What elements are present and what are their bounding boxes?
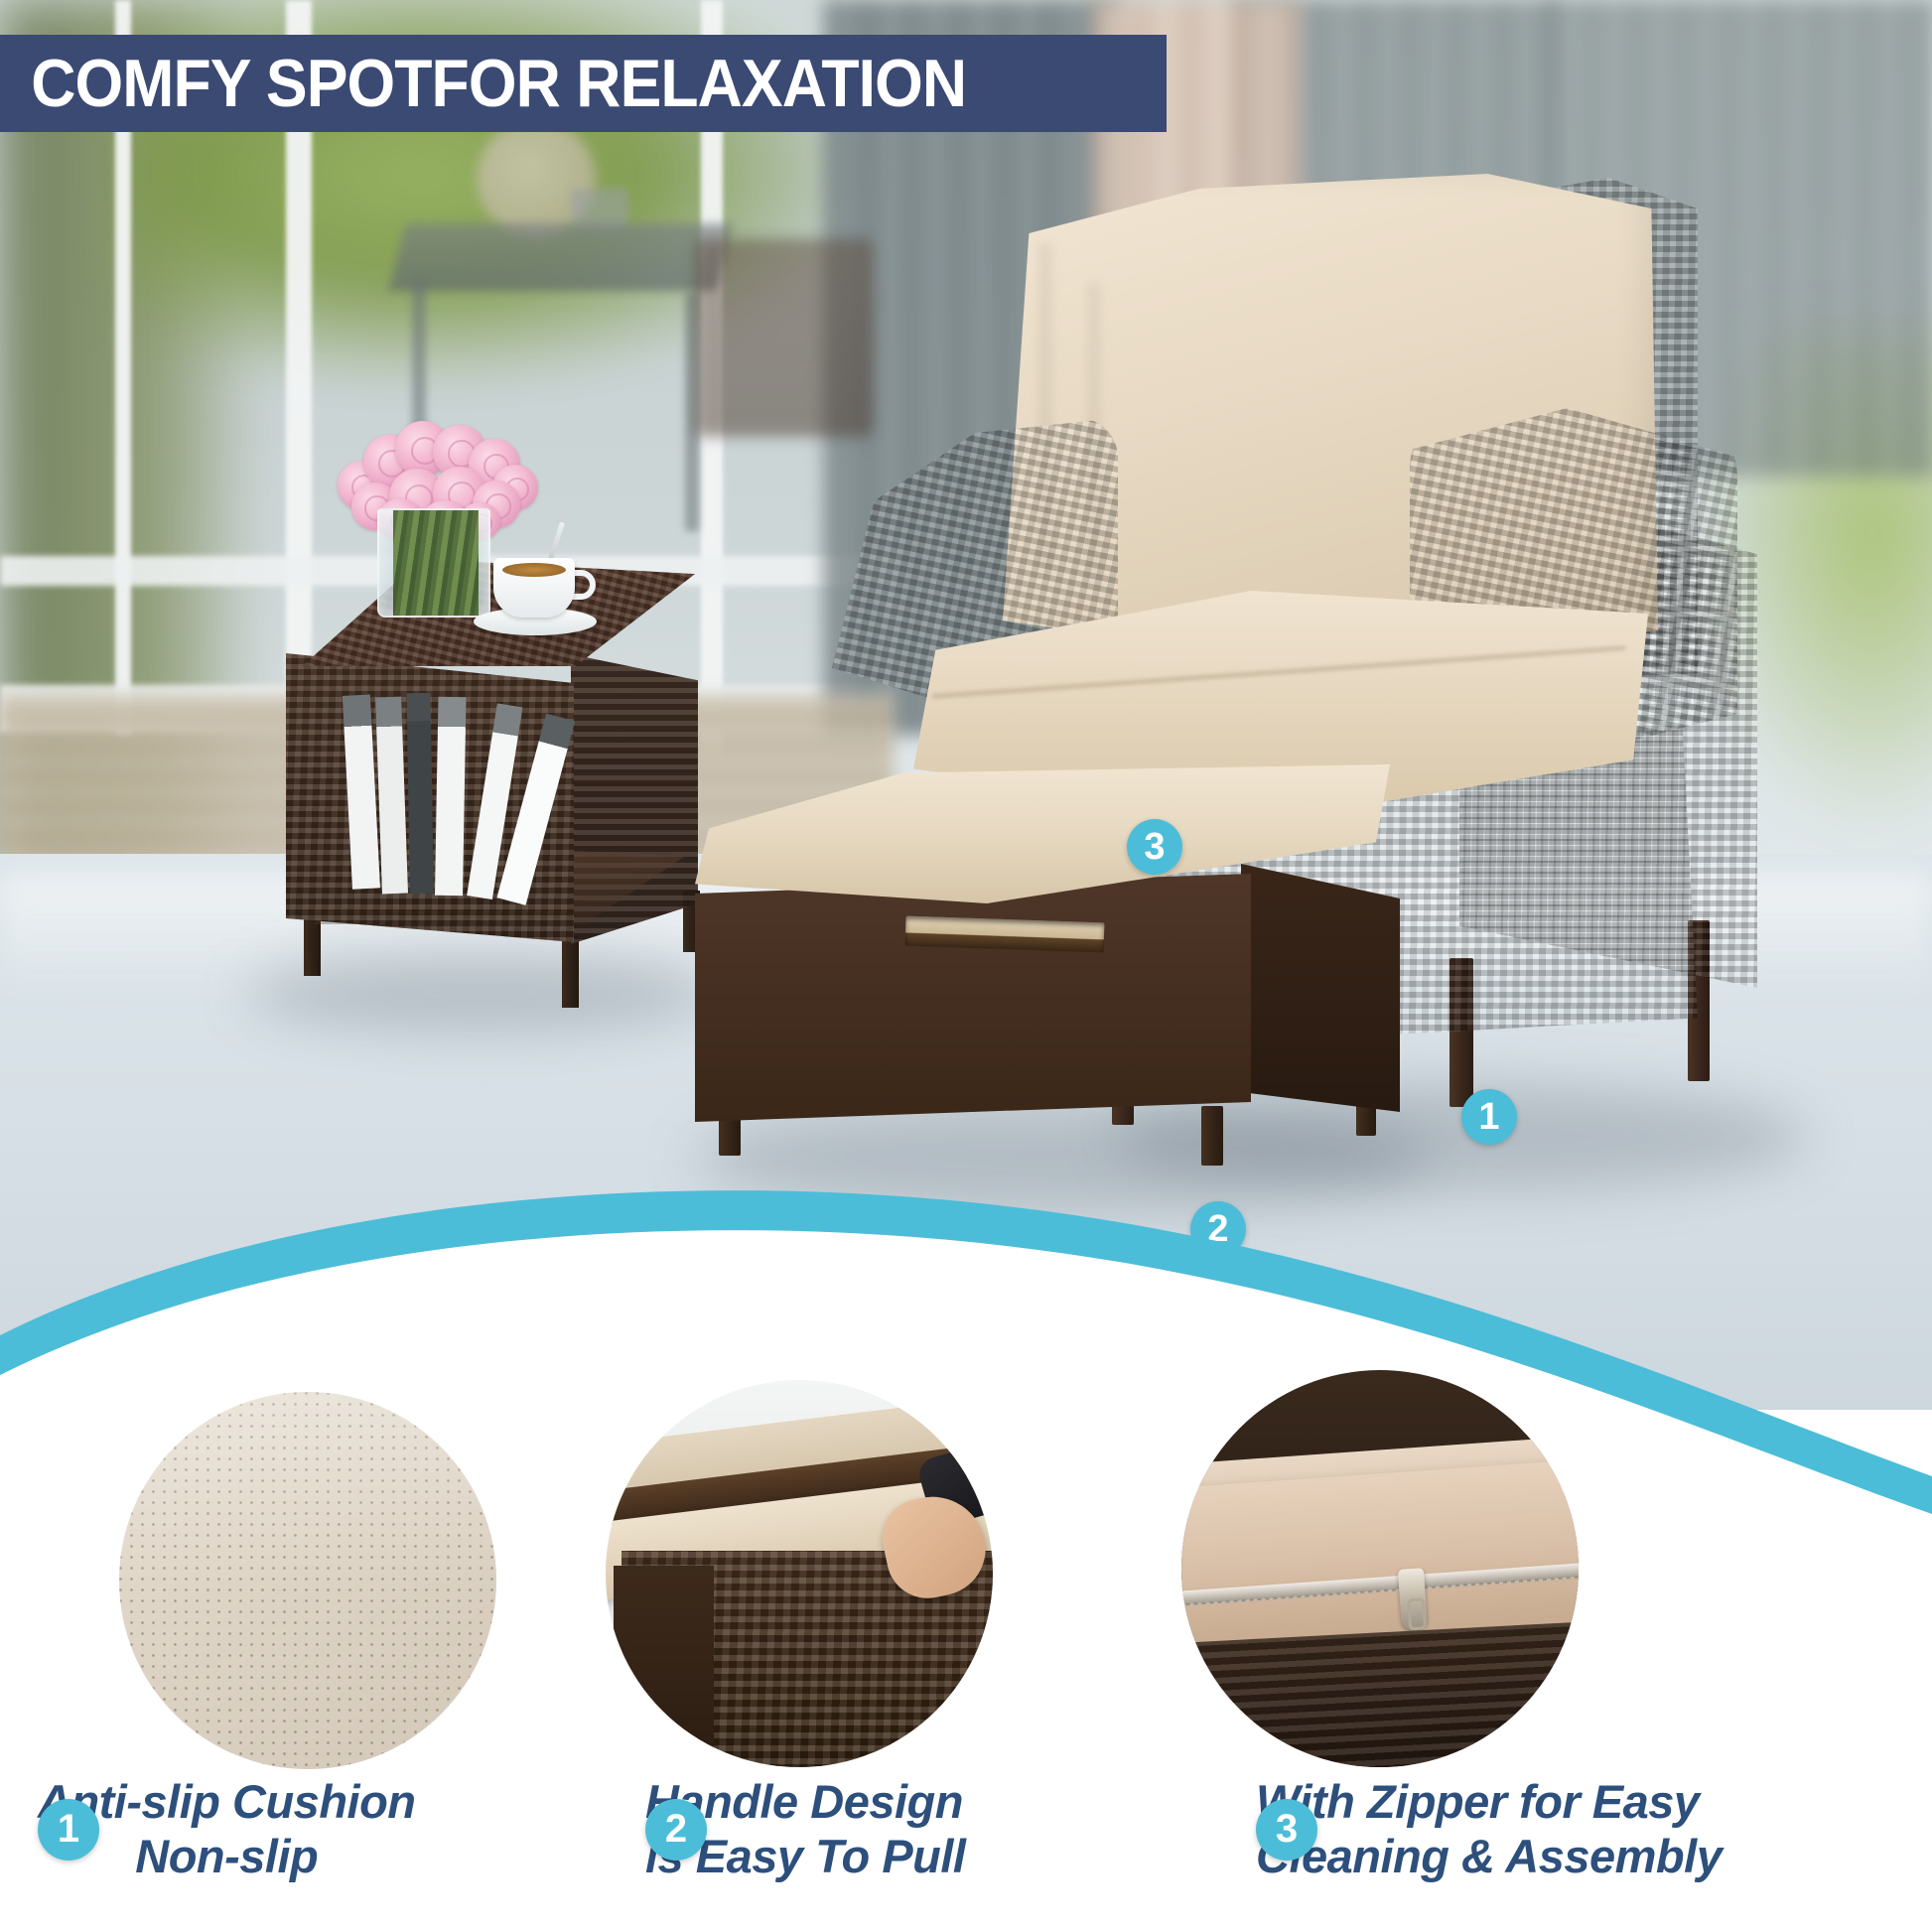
detail-image-handle <box>606 1380 993 1767</box>
callout-badge-2[interactable]: 2 <box>1190 1201 1246 1257</box>
detail-image-zipper <box>1181 1370 1579 1767</box>
feature-caption-1: 1 Anti-slip Cushion Non-slip <box>38 1775 416 1883</box>
callout-badge-1[interactable]: 1 <box>1461 1089 1517 1145</box>
c3-wicker-weave <box>1181 1620 1579 1767</box>
title-banner: COMFY SPOTFOR RELAXATION <box>0 35 1167 132</box>
feature-badge-3-number: 3 <box>1276 1807 1298 1852</box>
coffee-cup <box>493 558 575 618</box>
feature-badge-2: 2 <box>645 1799 707 1861</box>
ottoman-front-panel <box>695 874 1251 1122</box>
callout-badge-1-number: 1 <box>1478 1096 1499 1139</box>
storage-ottoman <box>685 764 1400 1181</box>
feature-badge-1: 1 <box>38 1799 99 1861</box>
feature-badge-2-number: 2 <box>665 1807 687 1852</box>
feature-caption-3-line2: Cleaning & Assembly <box>1256 1830 1722 1884</box>
hero-product-photo: COMFY SPOTFOR RELAXATION <box>0 0 1932 1410</box>
background-table-top <box>389 223 734 291</box>
c2-ottoman-left-panel <box>614 1566 714 1767</box>
ottoman-side-panel <box>1241 864 1400 1112</box>
callout-badge-3[interactable]: 3 <box>1127 819 1182 875</box>
book <box>435 697 466 896</box>
circle1-sheen <box>119 1392 496 1588</box>
feature-caption-3-text: With Zipper for Easy Cleaning & Assembly <box>1256 1775 1722 1883</box>
glass-vase <box>377 508 490 618</box>
ottoman-leg <box>1201 1106 1223 1166</box>
feature-caption-2: 2 Handle Design is Easy To Pull <box>645 1775 966 1883</box>
flower-stems <box>393 510 479 618</box>
zipper-slider-icon <box>1398 1568 1428 1631</box>
callout-badge-2-number: 2 <box>1207 1208 1228 1251</box>
feature-caption-3: 3 With Zipper for Easy Cleaning & Assemb… <box>1256 1775 1722 1883</box>
coffee-liquid <box>502 563 566 577</box>
callout-badge-3-number: 3 <box>1144 826 1165 869</box>
product-infographic: COMFY SPOTFOR RELAXATION <box>0 0 1932 1932</box>
book <box>406 693 434 894</box>
banner-title: COMFY SPOTFOR RELAXATION <box>0 45 966 122</box>
feature-badge-3: 3 <box>1256 1799 1317 1861</box>
feature-caption-3-line1: With Zipper for Easy <box>1256 1775 1722 1830</box>
feature-panel: 1 Anti-slip Cushion Non-slip 2 Handle De… <box>0 1370 1932 1932</box>
detail-image-anti-slip <box>119 1392 496 1769</box>
feature-badge-1-number: 1 <box>58 1807 79 1852</box>
table-leg <box>562 936 579 1008</box>
